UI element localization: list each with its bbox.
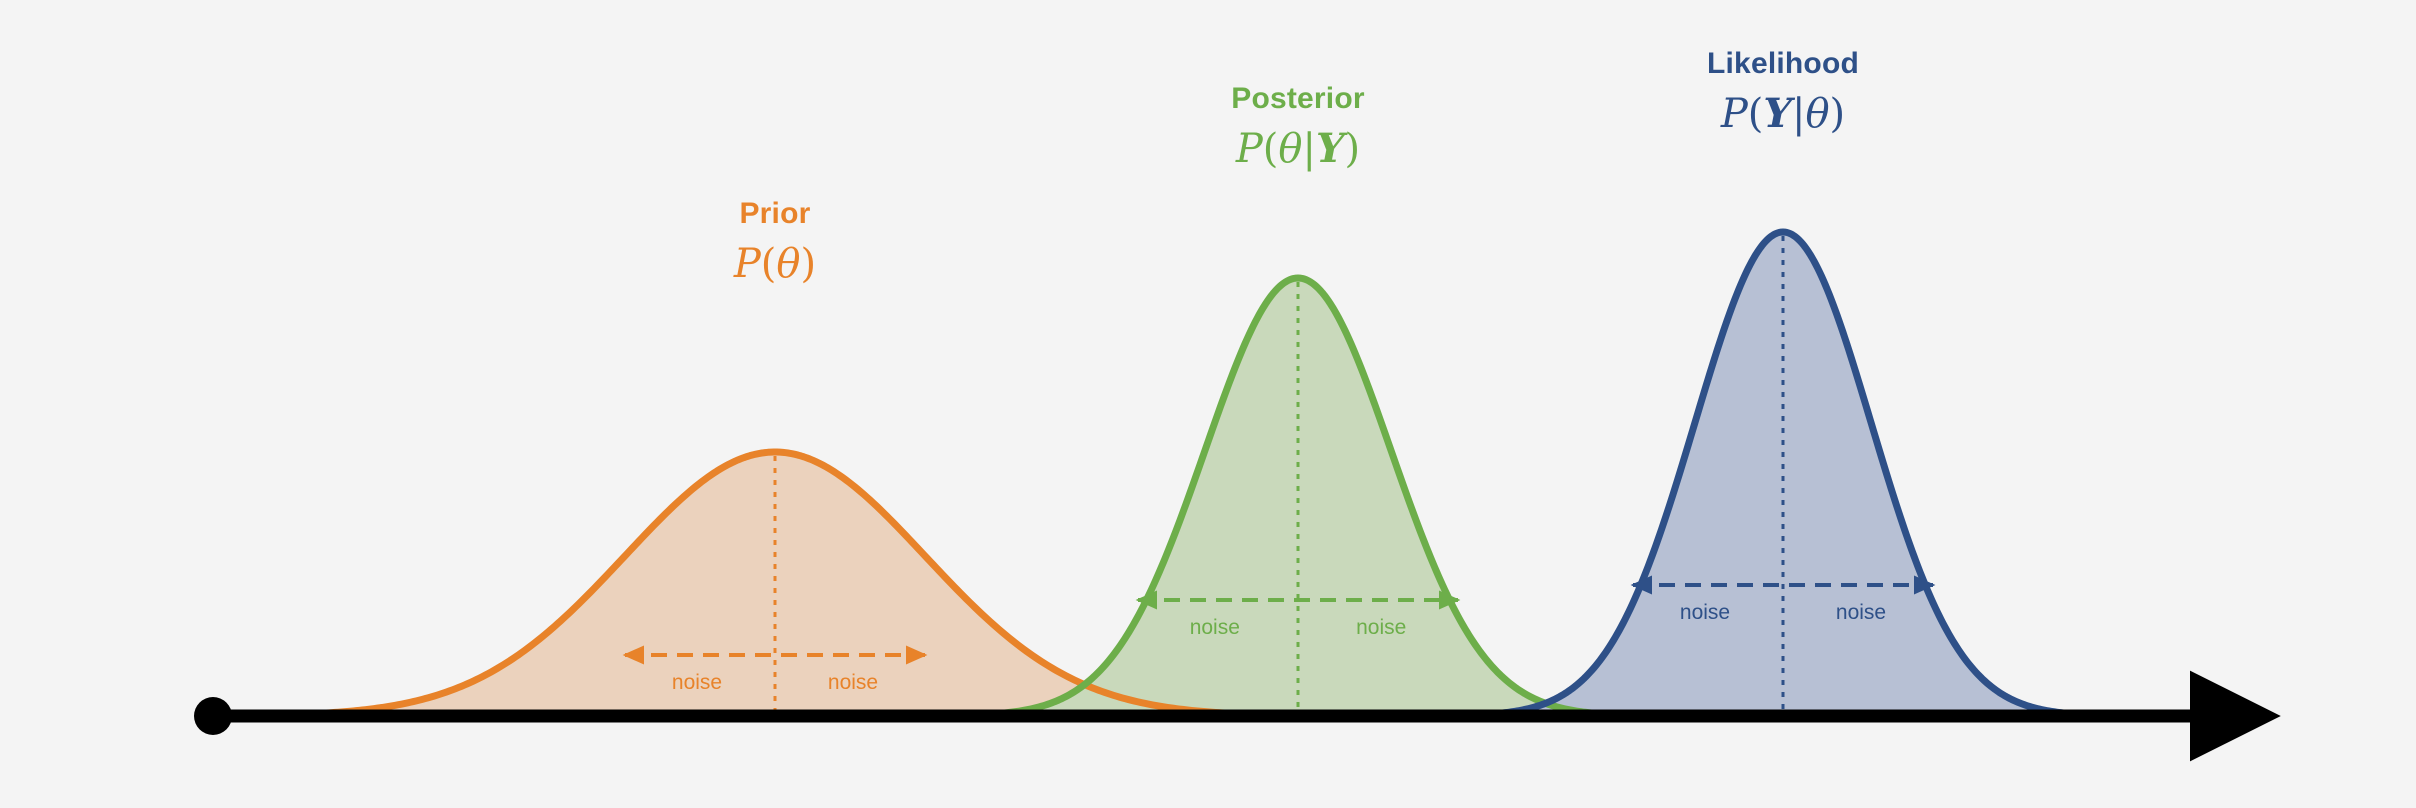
prior-formula-theta: θ xyxy=(776,241,800,287)
posterior-formula-open-paren: ( xyxy=(1263,126,1279,172)
posterior-noise-label-left: noise xyxy=(1190,616,1240,640)
likelihood-curve-fill xyxy=(1378,232,2188,716)
posterior-label-formula: P(θ|Y) xyxy=(1231,122,1365,176)
posterior-formula-p: P xyxy=(1236,126,1263,172)
prior-noise-label-left: noise xyxy=(672,671,722,695)
posterior-label-group: Posterior P(θ|Y) xyxy=(1231,80,1365,176)
posterior-formula-y: Y xyxy=(1316,125,1345,172)
likelihood-noise-label-left: noise xyxy=(1680,601,1730,625)
prior-formula-close-paren: ) xyxy=(801,241,817,287)
posterior-noise-label-right: noise xyxy=(1356,616,1406,640)
prior-formula-p: P xyxy=(734,241,761,287)
likelihood-formula-close-paren: ) xyxy=(1830,91,1846,137)
prior-label-group: Prior P(θ) xyxy=(734,195,816,291)
likelihood-label-formula: P(Y|θ) xyxy=(1707,87,1859,141)
bayes-diagram-figure: Prior P(θ) Posterior P(θ|Y) Likelihood P… xyxy=(0,0,2416,808)
x-axis-origin-dot xyxy=(194,697,232,735)
prior-formula-open-paren: ( xyxy=(761,241,777,287)
prior-label-formula: P(θ) xyxy=(734,237,816,291)
likelihood-label-title: Likelihood xyxy=(1707,45,1859,83)
likelihood-formula-y: Y xyxy=(1763,90,1792,137)
posterior-formula-close-paren: ) xyxy=(1345,126,1361,172)
prior-label-title: Prior xyxy=(734,195,816,233)
posterior-label-title: Posterior xyxy=(1231,80,1365,118)
likelihood-formula-open-paren: ( xyxy=(1748,91,1764,137)
likelihood-formula-bar: | xyxy=(1792,91,1805,137)
likelihood-formula-p: P xyxy=(1721,91,1748,137)
likelihood-noise-label-right: noise xyxy=(1836,601,1886,625)
prior-noise-label-right: noise xyxy=(828,671,878,695)
distribution-plot-canvas xyxy=(0,0,2416,808)
likelihood-label-group: Likelihood P(Y|θ) xyxy=(1707,45,1859,141)
posterior-formula-bar: | xyxy=(1302,126,1315,172)
likelihood-formula-theta: θ xyxy=(1805,91,1829,137)
posterior-formula-theta: θ xyxy=(1278,126,1302,172)
